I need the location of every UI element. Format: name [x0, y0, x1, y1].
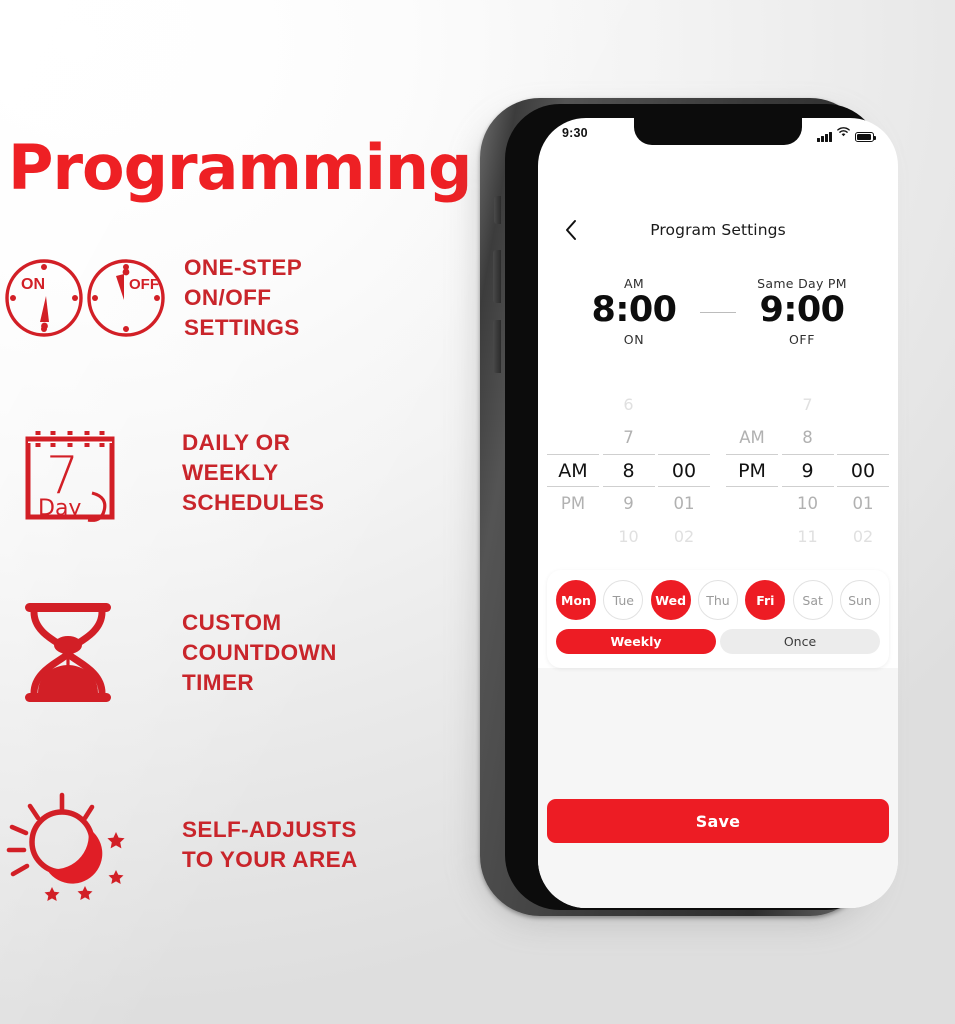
phone-notch [634, 118, 802, 145]
feature-self-adjusts: SELF-ADJUSTS TO YOUR AREA [0, 790, 440, 900]
volume-down-button[interactable] [493, 320, 501, 373]
day-chip-sat[interactable]: Sat [793, 580, 833, 620]
picker-cell[interactable]: 11 [782, 520, 834, 553]
end-meridiem-label: Same Day PM [732, 276, 872, 291]
end-time-value: 9:00 [732, 292, 872, 330]
day-chip-thu[interactable]: Thu [698, 580, 738, 620]
picker-cell[interactable] [726, 520, 778, 553]
chevron-left-icon[interactable] [553, 213, 587, 247]
phone-mockup: 9:30 [462, 98, 882, 923]
picker-cell[interactable]: 02 [837, 520, 889, 553]
end-state-label: OFF [732, 332, 872, 347]
page-header-title: Program Settings [538, 221, 898, 239]
sun-moon-icon [0, 784, 168, 906]
start-meridiem-label: AM [564, 276, 704, 291]
feature-custom-countdown-timer: CUSTOM COUNTDOWN TIMER [0, 598, 440, 708]
phone-screen: 9:30 [538, 118, 898, 908]
repeat-once-button[interactable]: Once [720, 629, 880, 654]
picker-cell[interactable] [547, 421, 599, 454]
picker-on-time[interactable]: AM PM 6 7 8 9 10 [547, 388, 710, 553]
picker-cell-selected[interactable]: 9 [782, 454, 834, 487]
picker-cell-selected[interactable]: AM [547, 454, 599, 487]
hourglass-icon [0, 597, 168, 709]
phone-frame: 9:30 [480, 98, 870, 916]
volume-up-button[interactable] [493, 250, 501, 303]
schedule-card: Mon Tue Wed Thu Fri Sat Sun Weekly Once [547, 570, 889, 668]
on-off-clocks-icon: ON OFF [2, 250, 170, 346]
picker-cell[interactable] [837, 388, 889, 421]
summary-end[interactable]: Same Day PM 9:00 OFF [732, 276, 872, 347]
picker-on-minute[interactable]: 00 01 02 [658, 388, 710, 553]
picker-cell[interactable]: 01 [837, 487, 889, 520]
svg-text:ON: ON [21, 276, 45, 293]
feature-label: ONE-STEP ON/OFF SETTINGS [184, 253, 302, 343]
picker-off-minute[interactable]: 00 01 02 [837, 388, 889, 553]
picker-cell[interactable] [547, 520, 599, 553]
picker-cell[interactable]: 10 [603, 520, 655, 553]
picker-on-hour[interactable]: 6 7 8 9 10 [603, 388, 655, 553]
picker-cell[interactable] [658, 388, 710, 421]
svg-text:Day: Day [38, 496, 81, 521]
time-range-summary: AM 8:00 ON Same Day PM 9:00 OFF [538, 276, 898, 347]
picker-cell-selected[interactable]: PM [726, 454, 778, 487]
picker-cell[interactable]: 02 [658, 520, 710, 553]
cellular-signal-icon [817, 132, 832, 142]
day-chip-fri[interactable]: Fri [745, 580, 785, 620]
picker-cell-selected[interactable]: 00 [837, 454, 889, 487]
time-pickers: AM PM 6 7 8 9 10 [538, 388, 898, 553]
picker-on-meridiem[interactable]: AM PM [547, 388, 599, 553]
picker-off-meridiem[interactable]: AM PM [726, 388, 778, 553]
nav-bar: Program Settings [538, 210, 898, 250]
repeat-mode-toggle: Weekly Once [556, 629, 880, 654]
left-feature-panel: Programming [0, 0, 460, 1024]
battery-full-icon [855, 132, 874, 142]
save-button[interactable]: Save [547, 799, 889, 843]
picker-cell[interactable] [726, 388, 778, 421]
day-chip-wed[interactable]: Wed [651, 580, 691, 620]
picker-cell[interactable]: 7 [603, 421, 655, 454]
lower-background [538, 668, 898, 908]
picker-cell[interactable]: AM [726, 421, 778, 454]
picker-off-time[interactable]: AM PM 7 8 9 10 11 [726, 388, 889, 553]
picker-cell[interactable]: PM [547, 487, 599, 520]
summary-start[interactable]: AM 8:00 ON [564, 276, 704, 347]
page-title: Programming [8, 137, 471, 199]
picker-cell[interactable]: 10 [782, 487, 834, 520]
picker-cell[interactable]: 8 [782, 421, 834, 454]
status-bar-icons [817, 124, 874, 142]
wifi-icon [837, 124, 850, 142]
svg-text:OFF: OFF [129, 276, 159, 293]
feature-label: DAILY OR WEEKLY SCHEDULES [182, 428, 324, 518]
range-separator-dash [700, 312, 736, 314]
status-bar-time: 9:30 [562, 126, 588, 140]
day-chip-mon[interactable]: Mon [556, 580, 596, 620]
picker-cell[interactable]: 6 [603, 388, 655, 421]
picker-cell-selected[interactable]: 00 [658, 454, 710, 487]
poster-canvas: Programming [0, 0, 955, 1024]
feature-label: SELF-ADJUSTS TO YOUR AREA [182, 815, 358, 875]
feature-daily-weekly-schedules: 7 Day DAILY OR WEEKLY SCHEDULES [0, 418, 440, 528]
picker-cell[interactable] [726, 487, 778, 520]
start-time-value: 8:00 [564, 292, 704, 330]
day-chip-tue[interactable]: Tue [603, 580, 643, 620]
picker-cell[interactable]: 9 [603, 487, 655, 520]
feature-one-step-onoff: ON OFF ONE-STEP ON/OFF SETTINGS [0, 248, 440, 348]
picker-cell[interactable] [658, 421, 710, 454]
day-selector: Mon Tue Wed Thu Fri Sat Sun [556, 580, 880, 620]
day-chip-sun[interactable]: Sun [840, 580, 880, 620]
feature-label: CUSTOM COUNTDOWN TIMER [182, 608, 337, 698]
silence-switch-button[interactable] [494, 196, 501, 224]
picker-cell[interactable]: 01 [658, 487, 710, 520]
phone-bezel: 9:30 [505, 104, 881, 910]
picker-cell[interactable]: 7 [782, 388, 834, 421]
seven-day-calendar-icon: 7 Day [0, 421, 168, 525]
picker-cell-selected[interactable]: 8 [603, 454, 655, 487]
start-state-label: ON [564, 332, 704, 347]
picker-cell[interactable] [547, 388, 599, 421]
picker-cell[interactable] [837, 421, 889, 454]
picker-off-hour[interactable]: 7 8 9 10 11 [782, 388, 834, 553]
repeat-weekly-button[interactable]: Weekly [556, 629, 716, 654]
